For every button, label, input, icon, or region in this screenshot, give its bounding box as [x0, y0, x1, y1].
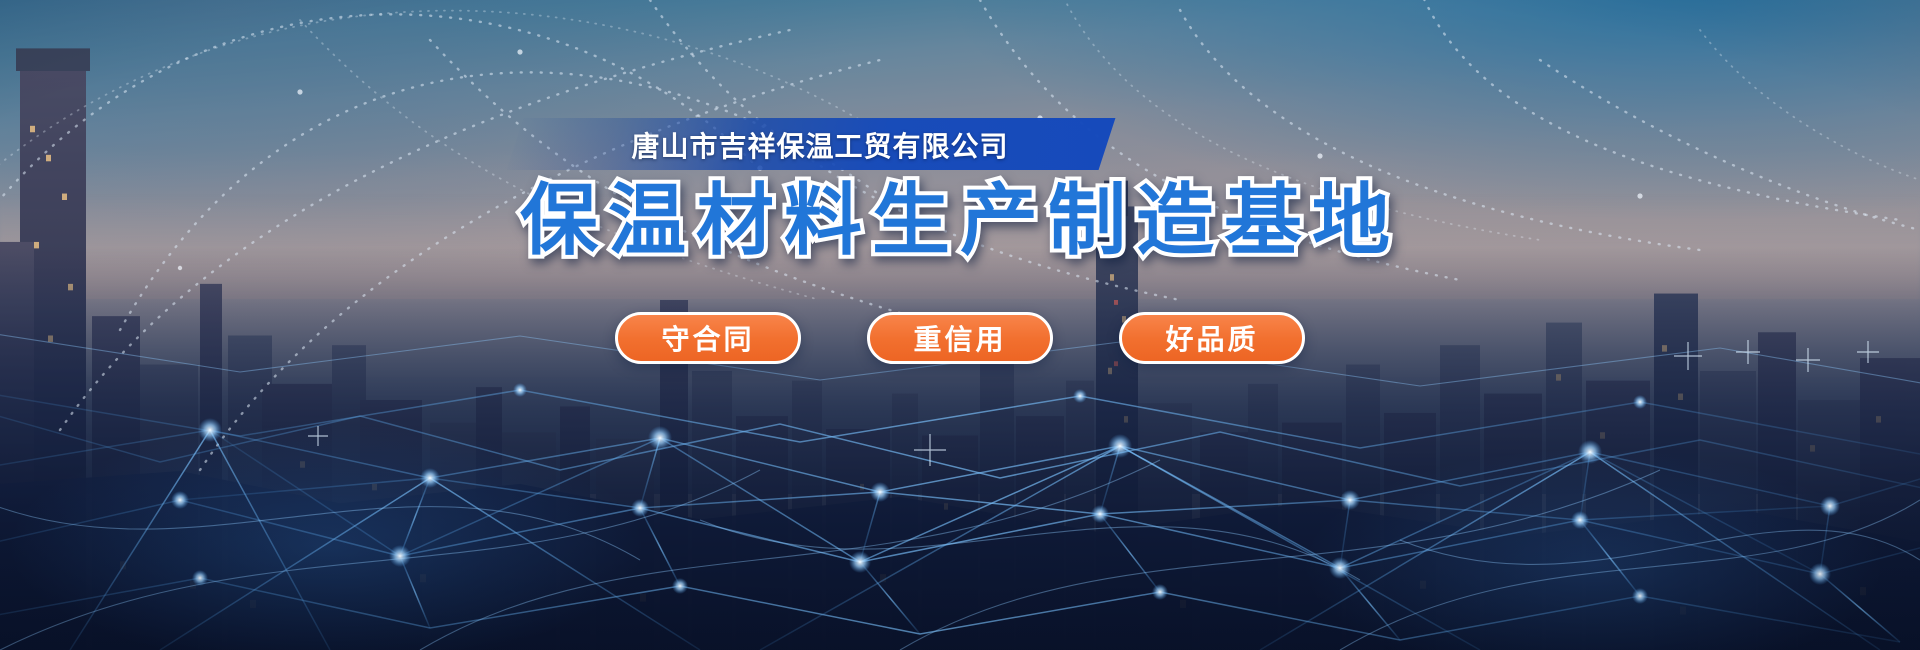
- banner-content: 唐山市吉祥保温工贸有限公司 保温材料生产制造基地 守合同 重信用 好品质: [0, 0, 1920, 650]
- tag-pill-group: 守合同 重信用 好品质: [0, 312, 1920, 364]
- banner-headline: 保温材料生产制造基地: [0, 178, 1920, 265]
- company-name: 唐山市吉祥保温工贸有限公司: [585, 125, 1055, 165]
- tag-pill-shouhetong[interactable]: 守合同: [615, 312, 801, 364]
- hero-banner: 唐山市吉祥保温工贸有限公司 保温材料生产制造基地 守合同 重信用 好品质: [0, 0, 1920, 650]
- tag-pill-haopinzhi[interactable]: 好品质: [1119, 312, 1305, 364]
- tag-pill-zhongxinyong[interactable]: 重信用: [867, 312, 1053, 364]
